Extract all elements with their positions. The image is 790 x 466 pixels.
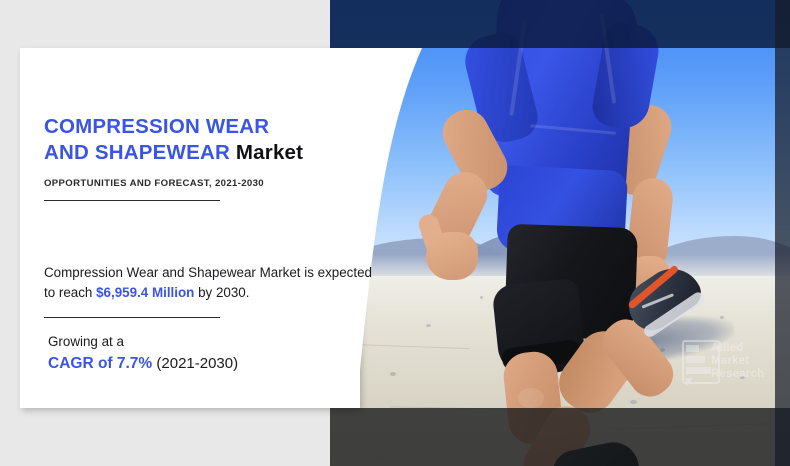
logo-line-1: Allied — [711, 342, 744, 355]
bar-chart-bar-3-icon — [686, 367, 711, 374]
market-value: $6,959.4 Million — [96, 285, 194, 300]
speech-bubble-tail-icon — [686, 378, 693, 387]
bottom-overlay-band — [330, 408, 790, 466]
title-line-2-highlight: AND SHAPEWEAR — [44, 141, 230, 164]
marketing-banner: COMPRESSION WEAR AND SHAPEWEAR Market OP… — [0, 0, 790, 466]
subtitle: OPPORTUNITIES AND FORECAST, 2021-2030 — [44, 178, 384, 189]
bar-chart-bar-2-icon — [686, 356, 705, 363]
logo-line-2: Market — [711, 355, 749, 368]
growth-label: Growing at a — [48, 332, 384, 352]
card-content: COMPRESSION WEAR AND SHAPEWEAR Market OP… — [44, 62, 384, 375]
allied-market-research-logo: Allied Market Research — [682, 340, 768, 386]
title-line-1: COMPRESSION WEAR — [44, 115, 269, 138]
page-title: COMPRESSION WEAR AND SHAPEWEAR Market — [44, 114, 384, 166]
cagr-value: CAGR of 7.7% — [48, 355, 152, 372]
divider-bottom — [44, 317, 220, 318]
cagr-line: CAGR of 7.7% (2021-2030) — [48, 353, 384, 375]
title-line-2-plain: Market — [236, 141, 303, 164]
right-overlay-band — [775, 0, 790, 466]
body-statement: Compression Wear and Shapewear Market is… — [44, 263, 374, 303]
divider-top — [44, 200, 220, 201]
body-suffix: by 2030. — [194, 285, 249, 300]
top-overlay-band — [330, 0, 790, 48]
logo-line-3: Research — [711, 368, 764, 381]
bar-chart-bar-1-icon — [686, 345, 699, 352]
cagr-period: (2021-2030) — [152, 355, 238, 372]
